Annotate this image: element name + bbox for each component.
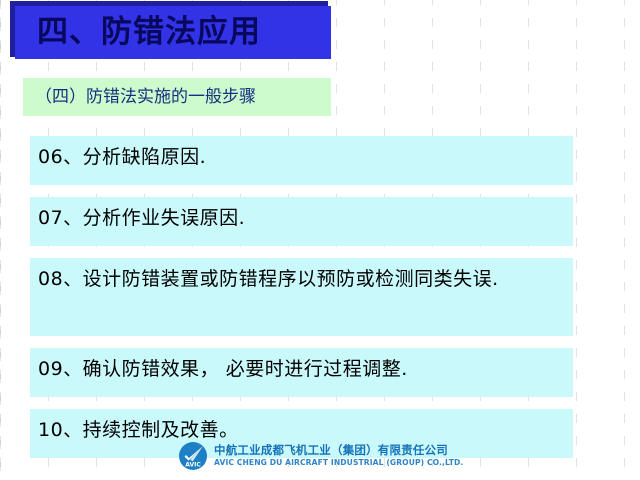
subtitle-box: （四）防错法实施的一般步骤 [23, 78, 331, 116]
step-list: 06、分析缺陷原因. 07、分析作业失误原因. 08、设计防错装置或防错程序以预… [30, 136, 573, 470]
slide-canvas: 四、防错法应用 （四）防错法实施的一般步骤 06、分析缺陷原因. 07、分析作业… [0, 0, 640, 480]
step-item: 06、分析缺陷原因. [30, 136, 573, 185]
footer-company-text: 中航工业成都飞机工业（集团）有限责任公司 AVIC CHENG DU AIRCR… [214, 444, 463, 468]
step-item: 08、设计防错装置或防错程序以预防或检测同类失误. [30, 258, 573, 336]
title-banner: 四、防错法应用 [15, 6, 331, 59]
grid-column [624, 0, 625, 480]
subtitle-text: （四）防错法实施的一般步骤 [23, 89, 256, 106]
grid-column [0, 0, 1, 480]
avic-logo-icon: AVIC [178, 441, 208, 471]
step-item: 09、确认防错效果， 必要时进行过程调整. [30, 348, 573, 397]
footer-logo-block: AVIC 中航工业成都飞机工业（集团）有限责任公司 AVIC CHENG DU … [178, 441, 463, 471]
page-title: 四、防错法应用 [15, 17, 261, 48]
company-name-en: AVIC CHENG DU AIRCRAFT INDUSTRIAL (GROUP… [214, 457, 463, 468]
svg-text:AVIC: AVIC [185, 462, 201, 469]
company-name-cn: 中航工业成都飞机工业（集团）有限责任公司 [214, 444, 463, 457]
grid-column [576, 0, 577, 480]
step-item: 07、分析作业失误原因. [30, 197, 573, 246]
